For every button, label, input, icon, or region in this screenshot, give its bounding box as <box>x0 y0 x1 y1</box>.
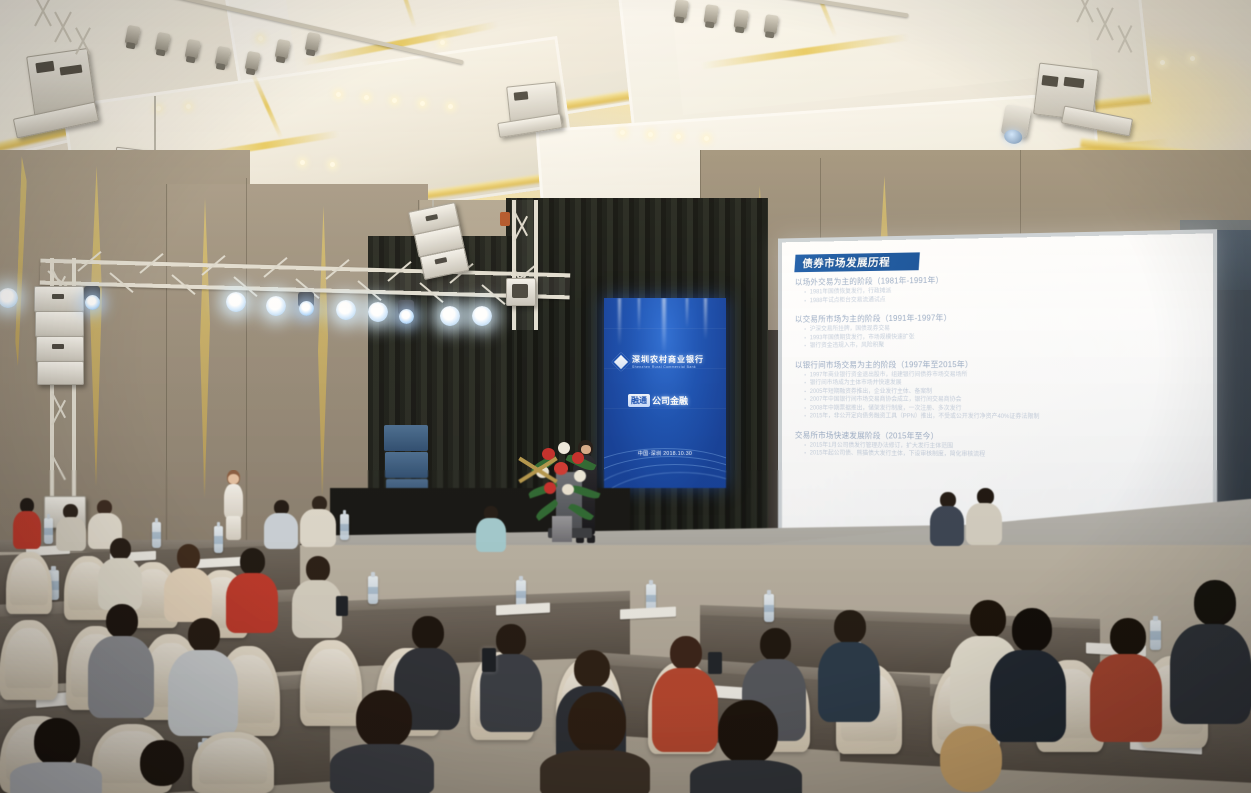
slide-title-bar: 债券市场发展历程 <box>794 252 920 272</box>
slide-title-text: 债券市场发展历程 <box>794 254 890 271</box>
track-spotlight <box>703 4 719 25</box>
slide-bullet: 银行资金违规入市，风险积聚 <box>804 340 1202 351</box>
track-spotlight <box>673 0 689 20</box>
stage-moving-head <box>398 300 414 315</box>
stage-par-light <box>226 292 246 312</box>
led-tagline-badge: 融通 <box>628 394 650 407</box>
slide-bullet-list: 沪深交易所挂牌，国债现券交易 1993年国债期货发行，市场规模快速扩张 银行资金… <box>804 322 1202 350</box>
chair <box>6 552 52 614</box>
audience-member <box>98 538 142 608</box>
smartphone <box>482 648 496 672</box>
audience-member <box>1170 580 1251 720</box>
smartphone <box>336 596 348 616</box>
bank-logo-cn: 深圳农村商业银行 <box>632 354 704 365</box>
water-bottle <box>368 576 378 604</box>
led-tagline: 融通 公司金融 <box>628 394 688 407</box>
audience-member <box>168 618 238 734</box>
audience-member <box>818 610 880 718</box>
water-bottle <box>764 594 774 622</box>
slide-bullet-list: 1997年商业银行资金退出股市，组建银行间债券市场交易场所 银行间市场成为主体市… <box>804 370 1202 422</box>
stage-par-light <box>266 296 286 316</box>
flower-arrangement <box>528 438 600 538</box>
ceiling-scissor-lift <box>36 0 116 56</box>
stage-par-light <box>336 300 356 320</box>
chair <box>0 620 58 700</box>
slide-bullet-list: 2015年1月公司债发行管理办法修订，扩大发行主体范围 2015年起公司债、熊猫… <box>804 441 1202 461</box>
audience-member <box>10 718 102 793</box>
slide-bullet: 2015年，非公开定向债务融资工具（PPN）推出，不受或公开发行净资产40%证券… <box>804 412 1202 422</box>
audience-member <box>300 496 336 546</box>
audience-member <box>292 556 342 636</box>
led-tagline-text: 公司金融 <box>652 394 688 407</box>
slide-section: 以场外交易为主的阶段（1981年-1991年） 1981年国债恢复发行，行政摊派… <box>795 271 1202 306</box>
slide-section: 以银行间市场交易为主的阶段（1997年至2015年） 1997年商业银行资金退出… <box>795 358 1202 423</box>
audience-member <box>476 506 506 550</box>
water-bottle <box>44 518 53 544</box>
audience-member <box>88 604 154 714</box>
smartphone <box>708 652 722 674</box>
audience-member <box>966 488 1002 544</box>
moving-head-light <box>1001 104 1032 138</box>
audience-member <box>1090 618 1162 738</box>
ceiling-scissor-lift <box>1078 0 1158 56</box>
stage-moving-head <box>84 286 100 301</box>
audience-member <box>330 690 434 793</box>
stage-moving-head <box>298 292 314 307</box>
slide-section-heading: 以银行间市场交易为主的阶段（1997年至2015年） <box>795 358 1202 370</box>
audience-member <box>480 624 542 730</box>
stage-par-light <box>472 306 492 326</box>
flower-stand <box>552 516 572 542</box>
audience-member <box>690 700 802 793</box>
stage-speaker-stack <box>385 452 428 478</box>
audience-member <box>990 608 1066 738</box>
slide-section: 交易所市场快速发展阶段（2015年至今） 2015年1月公司债发行管理办法修订，… <box>795 429 1202 461</box>
slide-body: 以场外交易为主的阶段（1981年-1991年） 1981年国债恢复发行，行政摊派… <box>795 271 1202 471</box>
audience-member <box>12 498 42 548</box>
water-bottle <box>340 514 349 540</box>
audience-member <box>540 692 650 793</box>
chain-hoist <box>500 212 510 226</box>
audience-member <box>910 726 1026 793</box>
audience-member <box>164 544 212 620</box>
stage-par-light <box>368 302 388 322</box>
water-bottle <box>214 526 223 553</box>
led-pillar-screen: 深圳农村商业银行 Shenzhen Rural Commercial Bank … <box>604 298 726 488</box>
water-bottle <box>152 522 161 548</box>
audience-member <box>930 492 964 544</box>
bank-logo: 深圳农村商业银行 Shenzhen Rural Commercial Bank <box>614 354 704 369</box>
conference-hall-photo: 债券市场发展历程 以场外交易为主的阶段（1981年-1991年） 1981年国债… <box>0 0 1251 793</box>
track-spotlight <box>763 14 779 35</box>
audience-member <box>56 504 86 550</box>
slide-bullet: 2005年短期融资券推出，企业发行主体、备案制 <box>804 387 1202 396</box>
track-spotlight <box>733 9 749 30</box>
slide-bullet: 银行间市场成为主体市场并快速发展 <box>804 379 1202 388</box>
stage-par-light <box>440 306 460 326</box>
stage-speaker-stack <box>384 425 428 451</box>
audience-member <box>118 740 206 793</box>
audience-member <box>264 500 298 548</box>
slide-section: 以交易所市场为主的阶段（1991年-1997年） 沪深交易所挂牌，国债现券交易 … <box>795 310 1202 351</box>
